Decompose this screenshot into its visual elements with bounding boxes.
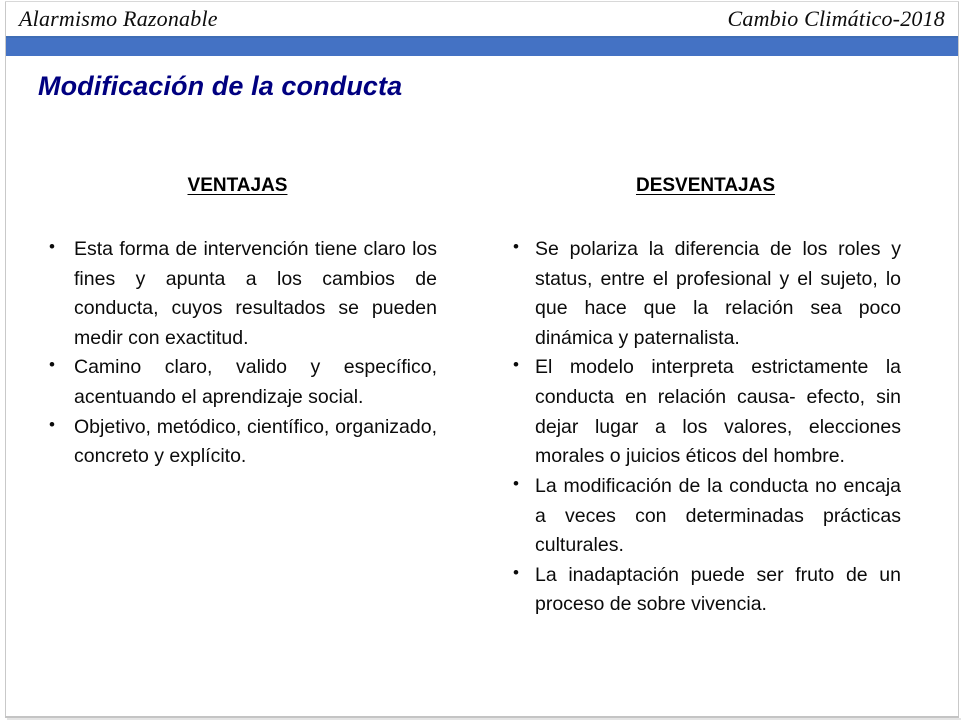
bullet-list-ventajas: Esta forma de intervención tiene claro l… [42,235,437,472]
column-heading-ventajas: VENTAJAS [38,176,437,197]
column-heading-desventajas: DESVENTAJAS [510,176,901,197]
header-left-text: Alarmismo Razonable [19,8,218,30]
column-ventajas: VENTAJAS Esta forma de intervención tien… [0,176,478,472]
column-desventajas: DESVENTAJAS Se polariza la diferencia de… [478,176,948,620]
slide-header: Alarmismo Razonable Cambio Climático-201… [7,2,957,35]
list-item: Se polariza la diferencia de los roles y… [508,235,901,354]
presentation-slide: Alarmismo Razonable Cambio Climático-201… [0,0,969,727]
list-item: La inadaptación puede ser fruto de un pr… [508,561,901,620]
list-item: Esta forma de intervención tiene claro l… [42,235,437,354]
bullet-list-desventajas: Se polariza la diferencia de los roles y… [508,235,901,620]
page-title: Modificación de la conducta [38,71,402,102]
list-item: Camino claro, valido y específico, acent… [42,353,437,412]
content-columns: VENTAJAS Esta forma de intervención tien… [0,176,969,620]
header-accent-bar [6,38,958,56]
list-item: Objetivo, metódico, científico, organiza… [42,413,437,472]
header-right-text: Cambio Climático-2018 [728,8,945,30]
list-item: El modelo interpreta estrictamente la co… [508,353,901,472]
list-item: La modificación de la conducta no encaja… [508,472,901,561]
slide-border-shadow [7,718,961,720]
